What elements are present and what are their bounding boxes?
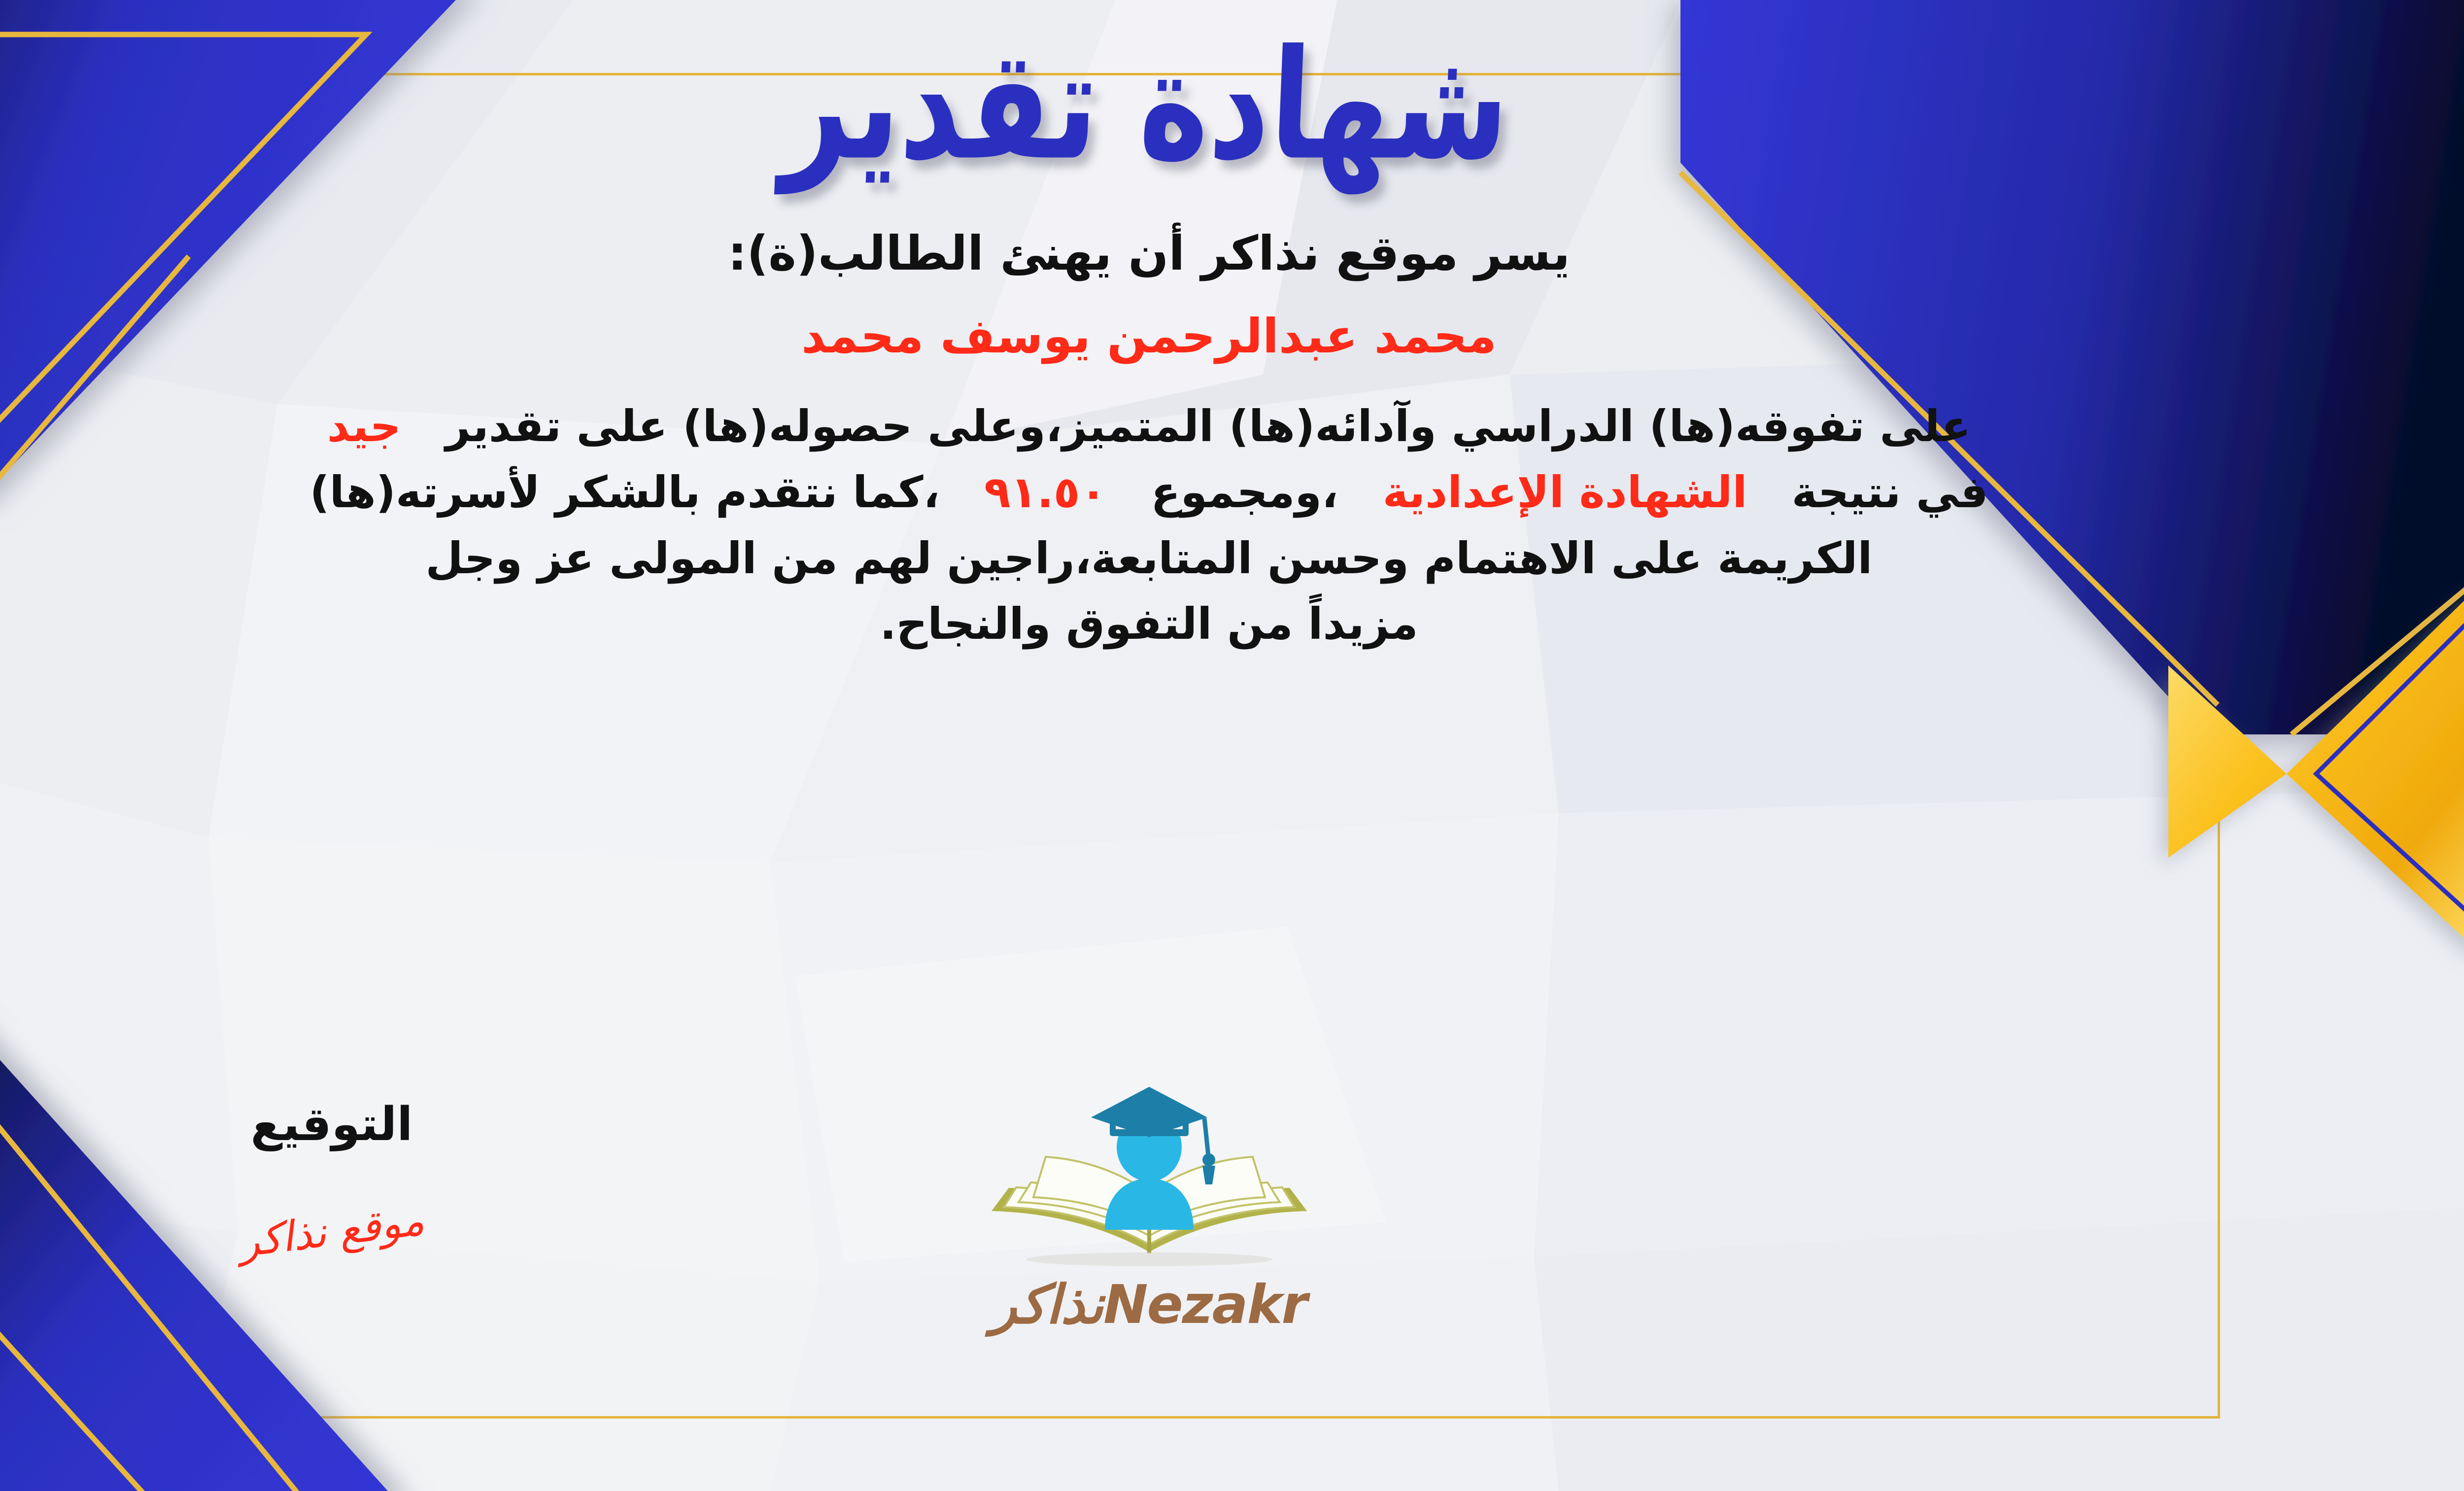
signature-script: موقع نذاكر — [237, 1196, 427, 1266]
total-label: ،ومجموع — [1151, 467, 1338, 518]
paragraph-line-3: الكريمة على الاهتمام وحسن المتابعة،راجين… — [102, 525, 2196, 591]
logo-wordmark: Nezakrنذاكر — [927, 1274, 1371, 1336]
certificate-body: يسر موقع نذاكر أن يهنئ الطالب(ة): محمد ع… — [102, 224, 2196, 657]
signature-label: التوقيع — [179, 1102, 484, 1148]
graduate-on-book-logo-icon — [962, 1082, 1336, 1279]
paragraph-line-1: على تفوقه(ها) الدراسي وآدائه(ها) المتميز… — [102, 393, 2196, 459]
student-name: محمد عبدالرحمن يوسف محمد — [102, 307, 2196, 366]
thanks-text: ،كما نتقدم بالشكر لأسرته(ها) — [309, 467, 940, 518]
page-title: شهادة تقدير — [779, 26, 1512, 185]
exam-name: الشهادة الإعدادية — [1383, 467, 1747, 518]
logo-wordmark-ar: نذاكر — [991, 1274, 1103, 1336]
achievement-text-1: على تفوقه(ها) الدراسي وآدائه(ها) المتميز… — [445, 401, 1971, 451]
certificate-content: شهادة تقدير يسر موقع نذاكر أن يهنئ الطال… — [0, 0, 2464, 1491]
achievement-paragraph: على تفوقه(ها) الدراسي وآدائه(ها) المتميز… — [102, 393, 2196, 657]
result-prefix: في نتيجة — [1792, 467, 1988, 518]
logo-wordmark-en: Nezakr — [1103, 1274, 1306, 1336]
paragraph-line-4: مزيداً من التفوق والنجاح. — [102, 591, 2196, 657]
certificate-footer: التوقيع موقع نذاكر — [0, 1102, 2464, 1407]
intro-line: يسر موقع نذاكر أن يهنئ الطالب(ة): — [102, 224, 2196, 283]
signature-block: التوقيع موقع نذاكر — [179, 1102, 484, 1255]
grade-value: جيد — [327, 401, 401, 451]
brand-logo: Nezakrنذاكر — [927, 1082, 1371, 1336]
certificate-page: شهادة تقدير يسر موقع نذاكر أن يهنئ الطال… — [0, 0, 2464, 1491]
paragraph-line-2: في نتيجةالشهادة الإعدادية،ومجموع٩١.٥٠،كم… — [102, 459, 2196, 525]
score-value: ٩١.٥٠ — [984, 467, 1106, 518]
